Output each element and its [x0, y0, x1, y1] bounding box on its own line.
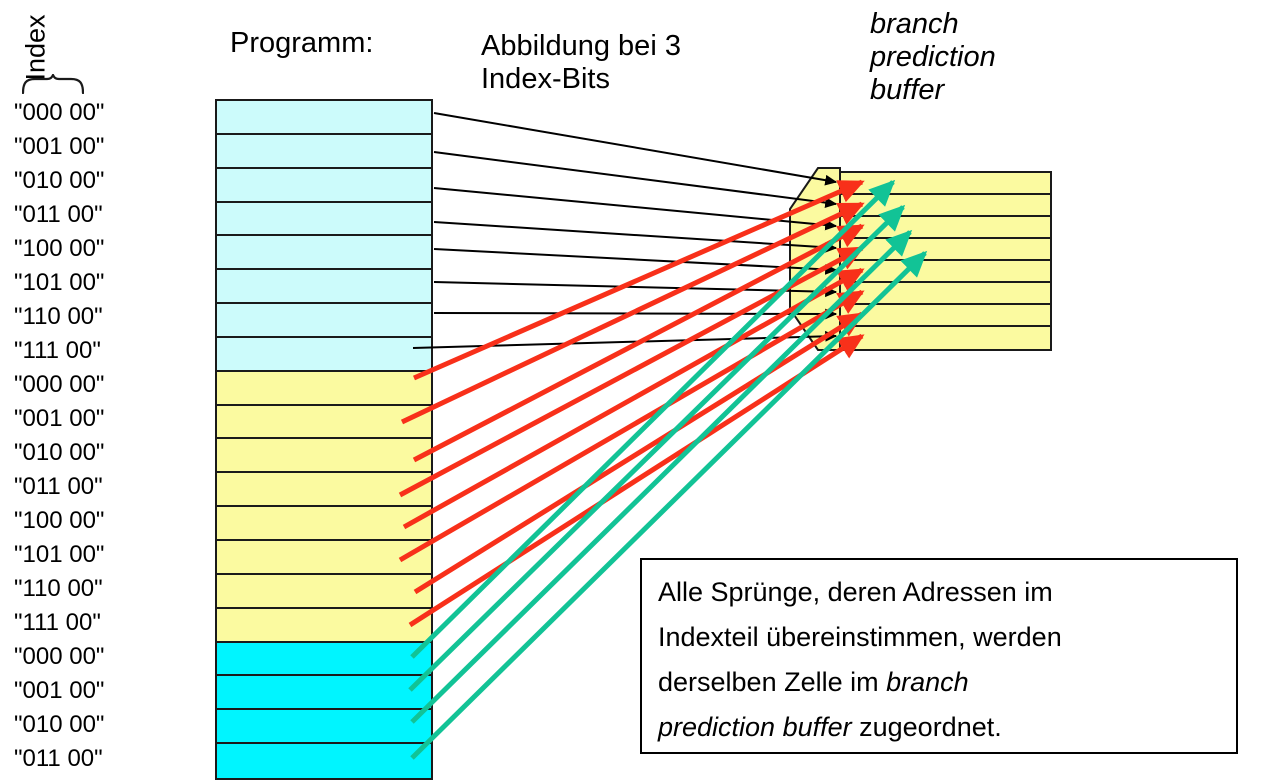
black-arrow	[434, 113, 836, 182]
red-arrow	[404, 270, 862, 527]
caption-line-4-plain: zugeordnet.	[852, 712, 1002, 742]
caption-line-2: Indexteil übereinstimmen, werden	[658, 615, 1222, 660]
caption-line-3-italic: branch	[886, 667, 969, 697]
caption-line-1: Alle Sprünge, deren Adressen im	[658, 570, 1222, 615]
black-arrow-group	[413, 113, 836, 348]
caption-box: Alle Sprünge, deren Adressen im Indextei…	[640, 558, 1238, 754]
caption-line-3-plain: derselben Zelle im	[658, 667, 886, 697]
caption-line-4: prediction buffer zugeordnet.	[658, 705, 1222, 750]
black-arrow	[434, 249, 836, 270]
black-arrow	[434, 152, 836, 204]
red-arrow	[400, 292, 862, 560]
caption-line-3: derselben Zelle im branch	[658, 660, 1222, 705]
caption-line-4-italic: prediction buffer	[658, 712, 852, 742]
